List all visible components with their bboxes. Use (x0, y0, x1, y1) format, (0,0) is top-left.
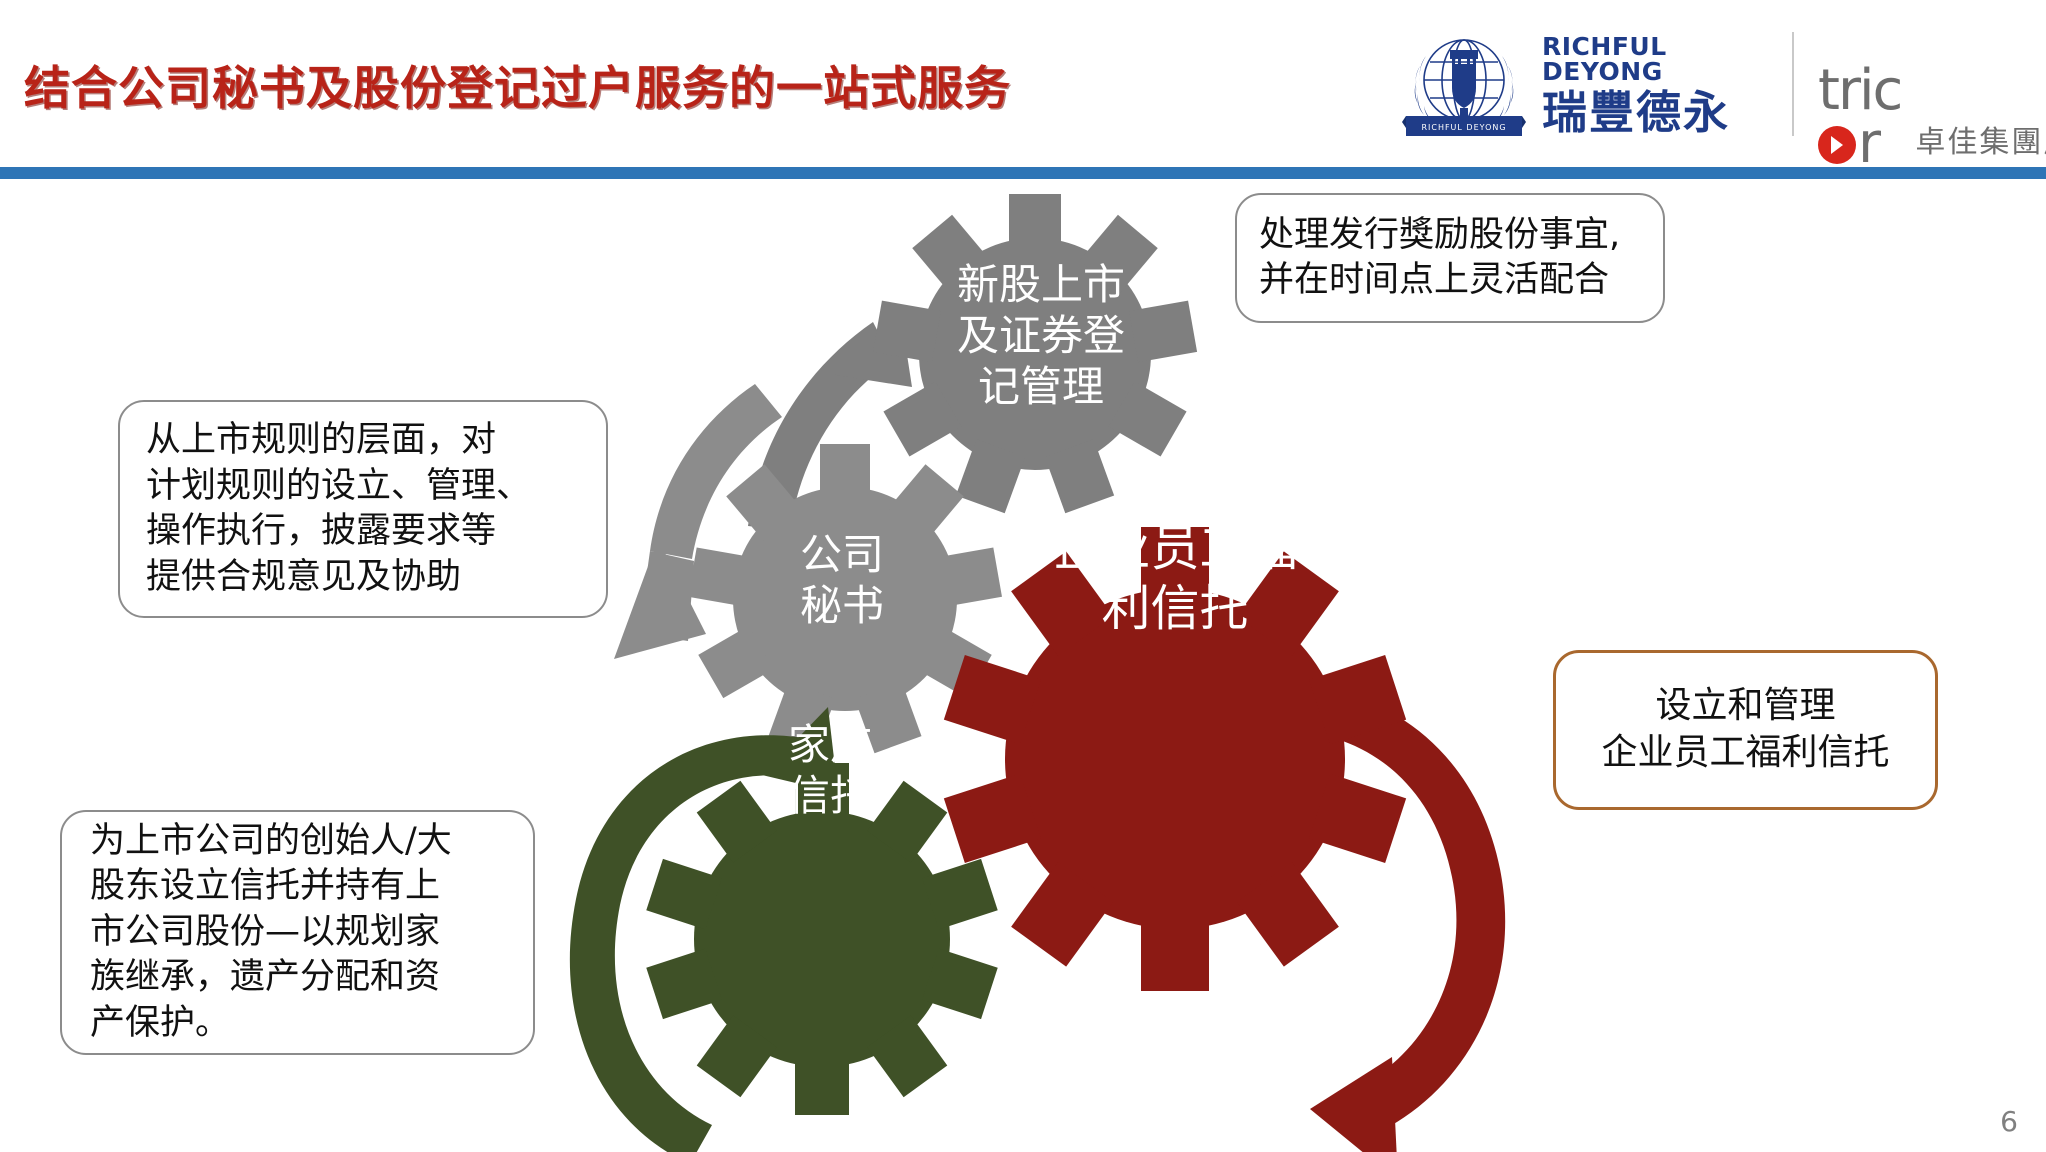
logo-divider (1792, 32, 1794, 136)
tricor-wordmark: tricr (1818, 64, 1901, 170)
slide: 结合公司秘书及股份登记过户服务的一站式服务 (0, 0, 2046, 1152)
tricor-o-icon (1818, 126, 1858, 166)
tricor-logo: tricr 卓佳集團成員 (1818, 64, 2046, 170)
brand-text-block: RICHFUL DEYONG 瑞豐德永 (1542, 34, 1772, 138)
callout-family-trust: 为上市公司的创始人/大 股东设立信托并持有上 市公司股份—以规划家 族继承，遗产… (60, 810, 535, 1055)
header-divider-bar (0, 167, 2046, 179)
richful-crest-icon: RICHFUL DEYONG (1400, 30, 1528, 142)
brand-name-en: RICHFUL DEYONG (1542, 34, 1772, 84)
tricor-member-label: 卓佳集團成員 (1915, 117, 2046, 161)
crest-ribbon-label: RICHFUL DEYONG (1421, 123, 1506, 132)
brand-name-cn: 瑞豐德永 (1542, 88, 1772, 138)
page-number: 6 (2000, 1105, 2018, 1138)
slide-header: 结合公司秘书及股份登记过户服务的一站式服务 (0, 0, 2046, 168)
gear-ipo (873, 194, 1197, 513)
page-title: 结合公司秘书及股份登记过户服务的一站式服务 (24, 52, 1011, 118)
company-logo: RICHFUL DEYONG RICHFUL DEYONG 瑞豐德永 tricr… (1400, 26, 2040, 144)
callout-award-shares: 处理发行獎励股份事宜, 并在时间点上灵活配合 (1235, 193, 1665, 323)
callout-esop-trust: 设立和管理 企业员工福利信托 (1553, 650, 1938, 810)
callout-listing-rules: 从上市规则的层面，对 计划规则的设立、管理、 操作执行，披露要求等 提供合规意见… (118, 400, 608, 618)
gear-esop-trust (944, 527, 1406, 991)
gear-family-trust (646, 763, 997, 1115)
